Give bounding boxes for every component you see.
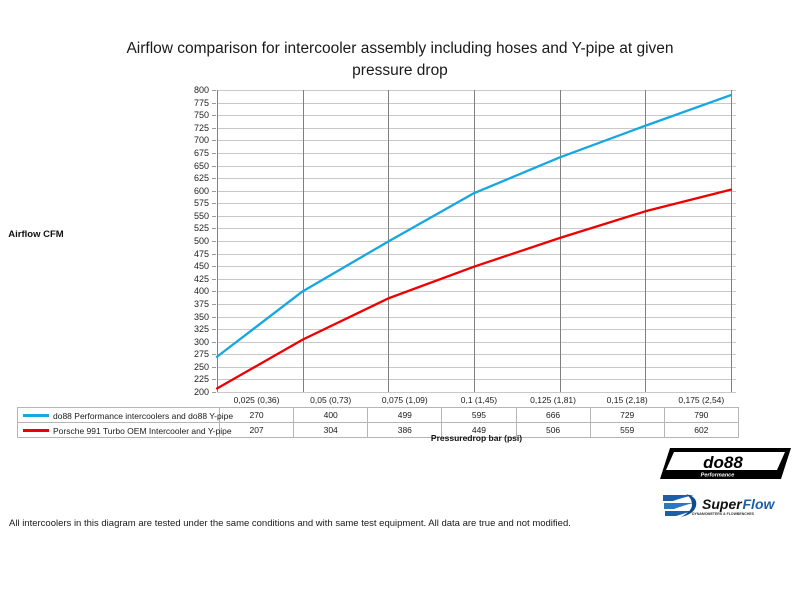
x-tick-label: 0,175 (2,54): [664, 393, 738, 408]
y-tick-mark: [212, 178, 216, 179]
y-tick-label: 775: [173, 99, 209, 108]
do88-logo-text: do88: [703, 453, 743, 472]
y-tick-label: 300: [173, 338, 209, 347]
y-tick-label: 500: [173, 237, 209, 246]
y-tick-label: 450: [173, 262, 209, 271]
y-axis-title: Airflow CFM: [0, 228, 72, 241]
y-tick-label: 675: [173, 149, 209, 158]
data-table: 0,025 (0,36)0,05 (0,73)0,075 (1,09)0,1 (…: [17, 393, 739, 438]
x-tick-label: 0,05 (0,73): [294, 393, 368, 408]
y-tick-label: 425: [173, 275, 209, 284]
y-tick-mark: [212, 216, 216, 217]
x-tick-label: 0,075 (1,09): [368, 393, 442, 408]
x-tick-label: 0,125 (1,81): [516, 393, 590, 408]
legend-entry[interactable]: Porsche 991 Turbo OEM Intercooler and Y-…: [18, 423, 220, 438]
superflow-logo-text-2: Flow: [743, 496, 776, 512]
y-tick-label: 375: [173, 300, 209, 309]
y-tick-label: 350: [173, 313, 209, 322]
y-tick-label: 250: [173, 363, 209, 372]
legend-label: Porsche 991 Turbo OEM Intercooler and Y-…: [53, 425, 232, 435]
table-header-corner: [18, 393, 220, 408]
y-tick-mark: [212, 191, 216, 192]
do88-logo: do88 Performance: [659, 447, 791, 485]
series-line: [217, 95, 731, 357]
y-tick-label: 700: [173, 136, 209, 145]
legend-swatch: [23, 429, 49, 432]
x-tick-label: 0,1 (1,45): [442, 393, 516, 408]
y-tick-mark: [212, 153, 216, 154]
table-cell-value: 729: [590, 408, 664, 423]
do88-logo-tagline: Performance: [701, 473, 735, 479]
x-axis-title: Pressuredrop bar (psi): [217, 433, 736, 443]
y-tick-mark: [212, 241, 216, 242]
y-tick-mark: [212, 367, 216, 368]
y-tick-label: 275: [173, 350, 209, 359]
chart-container: Airflow comparison for intercooler assem…: [0, 0, 800, 600]
footnote: All intercoolers in this diagram are tes…: [9, 518, 571, 529]
plot-area: [217, 90, 736, 392]
legend-entry[interactable]: do88 Performance intercoolers and do88 Y…: [18, 408, 220, 423]
x-tick-label: 0,025 (0,36): [220, 393, 294, 408]
y-tick-label: 725: [173, 124, 209, 133]
table-header-row: 0,025 (0,36)0,05 (0,73)0,075 (1,09)0,1 (…: [18, 393, 739, 408]
table-cell-value: 666: [516, 408, 590, 423]
y-tick-mark: [212, 266, 216, 267]
y-tick-mark: [212, 279, 216, 280]
y-tick-mark: [212, 203, 216, 204]
y-tick-mark: [212, 329, 216, 330]
y-tick-label: 525: [173, 224, 209, 233]
y-tick-label: 750: [173, 111, 209, 120]
x-tick-label: 0,15 (2,18): [590, 393, 664, 408]
y-tick-mark: [212, 103, 216, 104]
y-tick-mark: [212, 115, 216, 116]
table-cell-value: 790: [664, 408, 738, 423]
y-tick-mark: [212, 304, 216, 305]
table-cell-value: 400: [294, 408, 368, 423]
y-tick-label: 575: [173, 199, 209, 208]
y-tick-mark: [212, 254, 216, 255]
y-tick-mark: [212, 228, 216, 229]
y-tick-mark: [212, 317, 216, 318]
y-tick-mark: [212, 90, 216, 91]
y-tick-mark: [212, 166, 216, 167]
series-lines: [217, 90, 736, 392]
y-tick-label: 600: [173, 187, 209, 196]
y-tick-label: 325: [173, 325, 209, 334]
y-tick-mark: [212, 379, 216, 380]
y-tick-label: 475: [173, 250, 209, 259]
y-tick-label: 550: [173, 212, 209, 221]
superflow-logo-text-1: Super: [702, 496, 743, 512]
superflow-swoosh-icon: [663, 494, 696, 517]
y-tick-label: 400: [173, 287, 209, 296]
y-tick-label: 225: [173, 375, 209, 384]
table-cell-value: 595: [442, 408, 516, 423]
y-tick-label: 650: [173, 162, 209, 171]
chart-title: Airflow comparison for intercooler assem…: [95, 38, 705, 82]
superflow-logo: Super Flow DYNAMOMETERS & FLOWBENCHES: [661, 489, 791, 519]
legend-swatch: [23, 414, 49, 417]
y-tick-mark: [212, 342, 216, 343]
legend-label: do88 Performance intercoolers and do88 Y…: [53, 410, 233, 420]
y-tick-label: 625: [173, 174, 209, 183]
y-tick-mark: [212, 128, 216, 129]
y-tick-label: 800: [173, 86, 209, 95]
table-row: do88 Performance intercoolers and do88 Y…: [18, 408, 739, 423]
y-tick-mark: [212, 140, 216, 141]
superflow-logo-tagline: DYNAMOMETERS & FLOWBENCHES: [692, 512, 755, 516]
table-cell-value: 499: [368, 408, 442, 423]
y-tick-mark: [212, 291, 216, 292]
series-line: [217, 190, 731, 389]
y-tick-mark: [212, 354, 216, 355]
